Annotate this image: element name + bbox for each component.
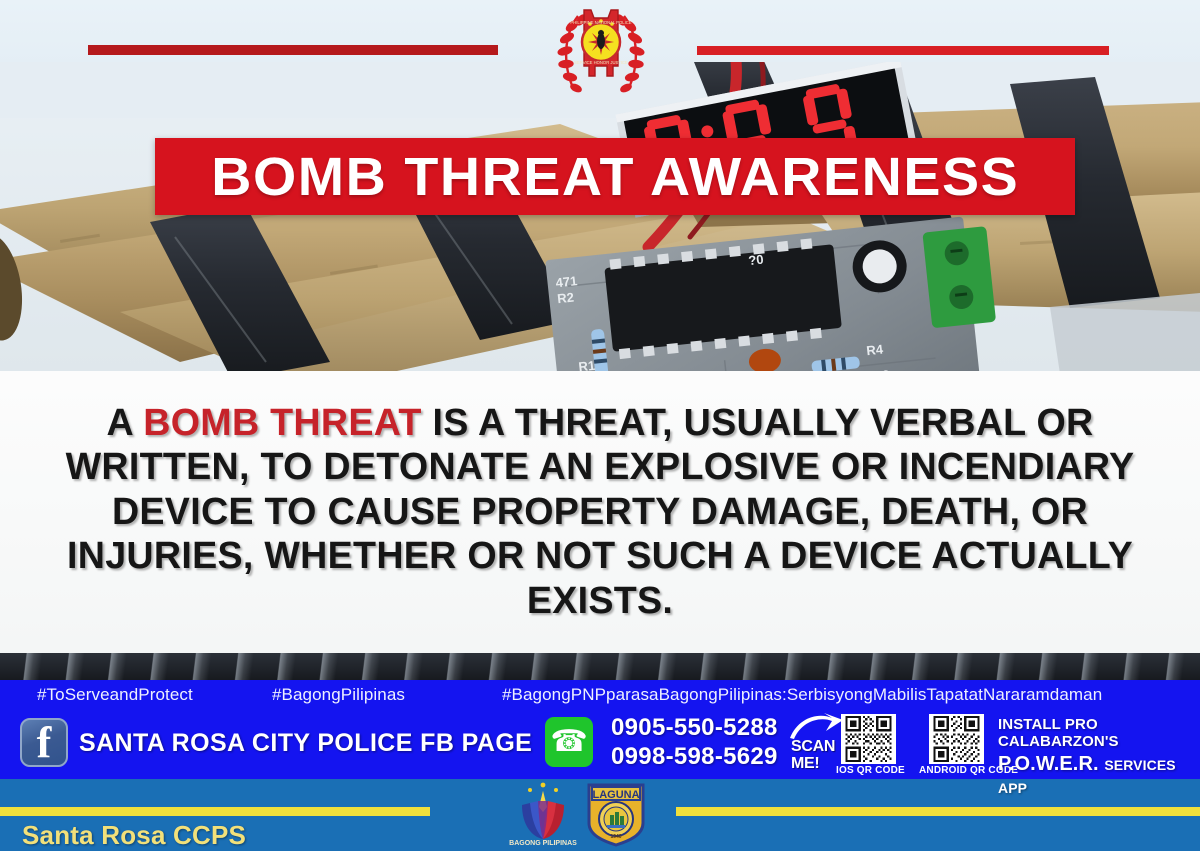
svg-text:1940: 1940 xyxy=(610,834,621,840)
app-promo-name: P.O.W.E.R. xyxy=(998,753,1099,775)
qr-code-icon-ios[interactable] xyxy=(841,714,896,764)
hashtag-1: #ToServeandProtect xyxy=(37,685,193,705)
phone-numbers: 0905-550-5288 0998-598-5629 xyxy=(611,713,778,771)
svg-text:471: 471 xyxy=(555,273,578,290)
svg-text:R2: R2 xyxy=(557,290,575,307)
curved-arrow-icon xyxy=(788,712,844,740)
definition-lead: A xyxy=(106,402,132,444)
laguna-wordmark: LAGUNA xyxy=(592,789,639,801)
hashtag-3: #BagongPNPparasaBagongPilipinas:Serbisyo… xyxy=(502,685,1102,705)
phone-number-2: 0998-598-5629 xyxy=(611,742,778,771)
qr-matrix-ios xyxy=(843,716,894,762)
definition-text: A BOMB THREAT IS A THREAT, USUALLY VERBA… xyxy=(26,401,1174,623)
qr-caption-ios: IOS QR CODE xyxy=(836,765,905,776)
app-promo: INSTALL PRO CALABARZON'S P.O.W.E.R. SERV… xyxy=(998,716,1200,799)
svg-text:?0: ?0 xyxy=(748,252,765,269)
poster-canvas: 471 R2 R1 ?0 R4 R3 S2 DC5V C5 xyxy=(0,0,1200,851)
unit-name: Santa Rosa CCPS xyxy=(22,820,246,851)
qr-code-icon-android[interactable] xyxy=(929,714,984,764)
svg-text:R1: R1 xyxy=(578,358,596,372)
definition-section: A BOMB THREAT IS A THREAT, USUALLY VERBA… xyxy=(0,371,1200,653)
pnp-seal-icon: PHILIPPINE NATIONAL POLICE SERVICE HONOR… xyxy=(548,2,654,102)
page-title: BOMB THREAT AWARENESS xyxy=(211,150,1019,204)
svg-text:PHILIPPINE NATIONAL POLICE: PHILIPPINE NATIONAL POLICE xyxy=(570,20,631,25)
bomb-photo: 471 R2 R1 ?0 R4 R3 S2 DC5V C5 xyxy=(0,62,1200,372)
hashtag-2: #BagongPilipinas xyxy=(272,685,405,705)
facebook-page-label[interactable]: SANTA ROSA CITY POLICE FB PAGE xyxy=(79,729,532,758)
phone-icon: ☎ xyxy=(545,717,593,767)
divider-strip xyxy=(0,653,1200,680)
phone-number-1: 0905-550-5288 xyxy=(611,713,778,742)
title-banner: BOMB THREAT AWARENESS xyxy=(155,138,1075,215)
decorative-rule-left xyxy=(88,45,498,55)
bagong-pilipinas-icon: BAGONG PILIPINAS xyxy=(508,781,578,847)
facebook-icon[interactable]: f xyxy=(20,718,68,767)
yellow-stripe-right xyxy=(676,807,1200,816)
yellow-stripe-left xyxy=(0,807,430,816)
bomb-photo-illustration: 471 R2 R1 ?0 R4 R3 S2 DC5V C5 xyxy=(0,62,1200,372)
phone-glyph: ☎ xyxy=(545,717,593,767)
hashtag-row: #ToServeandProtect #BagongPilipinas #Bag… xyxy=(0,682,1200,710)
qr-matrix-android xyxy=(931,716,982,762)
app-promo-line1: INSTALL PRO CALABARZON'S xyxy=(998,716,1200,750)
facebook-glyph: f xyxy=(22,718,66,768)
decorative-rule-right xyxy=(697,46,1109,55)
app-promo-line2: P.O.W.E.R. SERVICES APP xyxy=(998,753,1200,799)
scan-line-1: SCAN xyxy=(791,738,843,755)
bagong-pilipinas-caption: BAGONG PILIPINAS xyxy=(509,840,577,847)
svg-text:R4: R4 xyxy=(866,341,885,358)
laguna-seal-icon: LAGUNA 1940 xyxy=(585,781,647,847)
definition-highlight: BOMB THREAT xyxy=(143,402,421,444)
svg-text:SERVICE HONOR JUSTICE: SERVICE HONOR JUSTICE xyxy=(574,60,628,65)
